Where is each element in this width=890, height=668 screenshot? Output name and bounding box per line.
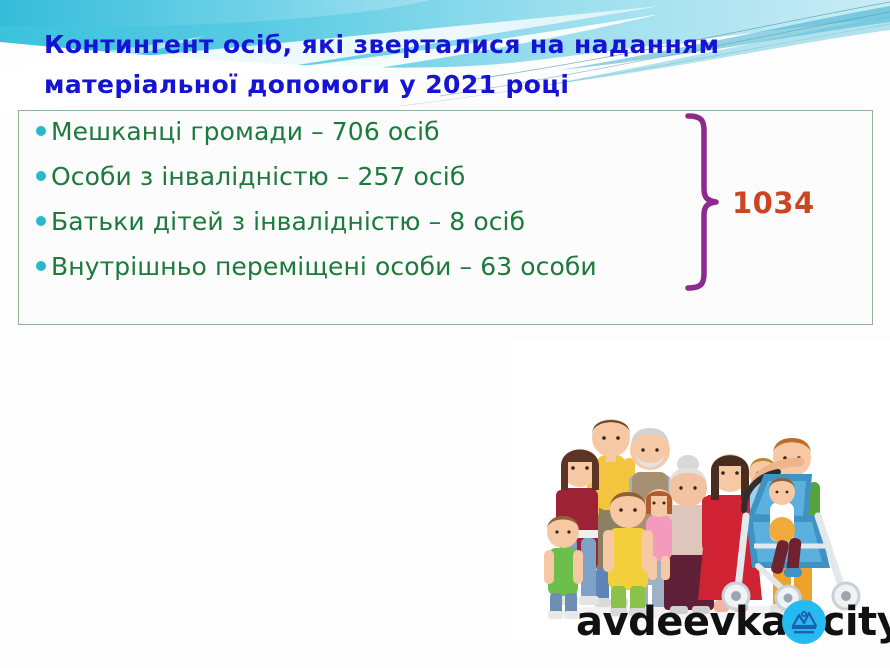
family-group-illustration	[512, 340, 890, 640]
list-item-label: Внутрішньо переміщені особи – 63 особи	[51, 252, 597, 281]
bullet-dot-icon	[31, 126, 51, 136]
watermark-text-after: city	[822, 602, 890, 642]
brace-path	[688, 116, 716, 288]
slide-title: Контингент осіб, які зверталися на надан…	[44, 25, 744, 105]
list-item: Мешканці громади – 706 осіб	[31, 117, 872, 162]
mountain-circle-icon	[782, 600, 826, 644]
bullet-dot-icon	[31, 171, 51, 181]
list-item: Внутрішньо переміщені особи – 63 особи	[31, 252, 872, 297]
total-count: 1034	[732, 186, 815, 220]
bullet-dot-icon	[31, 261, 51, 271]
list-item-label: Батьки дітей з інвалідністю – 8 осіб	[51, 207, 525, 236]
watermark-text-before: avdeevka	[576, 602, 788, 642]
summary-brace	[682, 113, 722, 291]
list-item-label: Особи з інвалідністю – 257 осіб	[51, 162, 465, 191]
title-line-1: Контингент осіб, які зверталися на надан…	[44, 25, 744, 65]
list-item-label: Мешканці громади – 706 осіб	[51, 117, 440, 146]
slide-canvas: Контингент осіб, які зверталися на надан…	[0, 0, 890, 668]
bullet-dot-icon	[31, 216, 51, 226]
title-line-2: матеріальної допомоги у 2021 році	[44, 65, 744, 105]
avdeevka-city-logo: avdeevka city	[576, 598, 890, 646]
wave-fill-secondary	[0, 0, 430, 27]
